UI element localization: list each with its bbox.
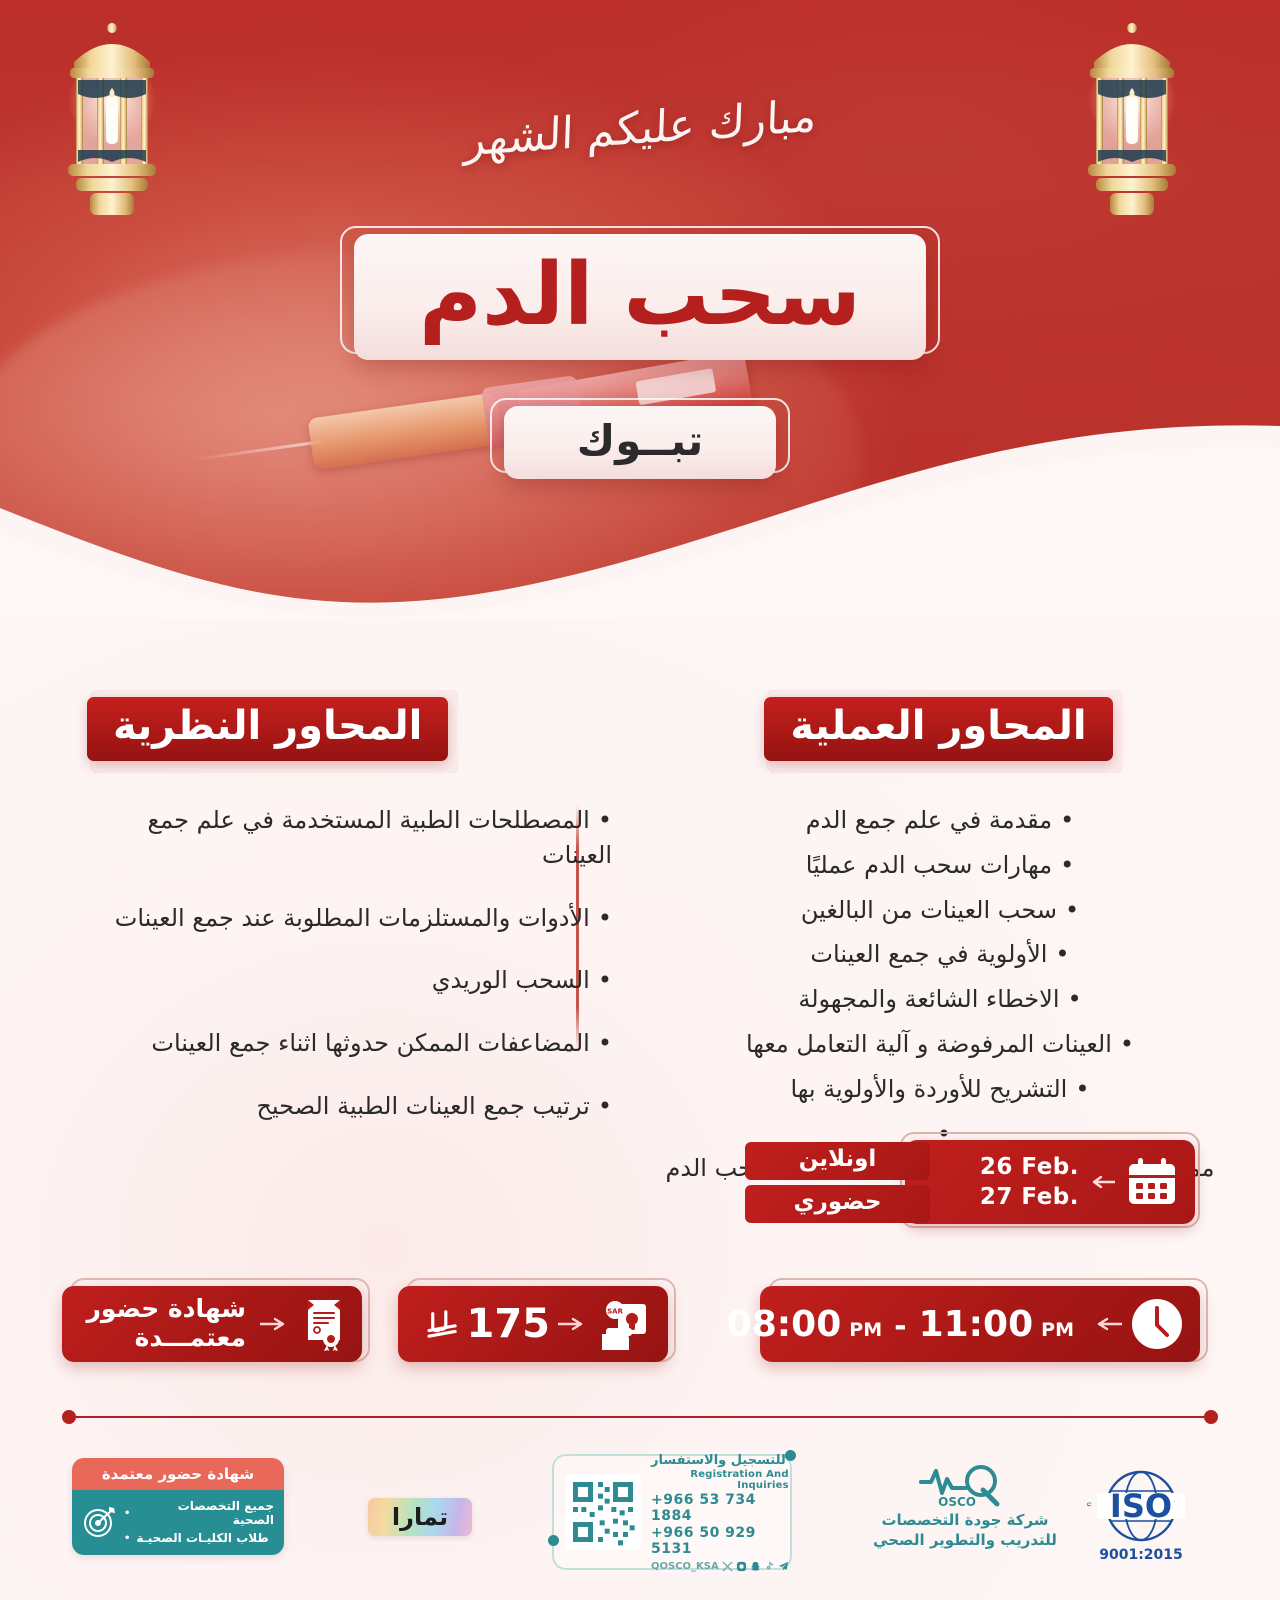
topic-text: الاخطاء الشائعة والمجهولة [798, 982, 1059, 1017]
list-item: •مهارات سحب الدم عمليًا [660, 848, 1220, 883]
tamara-logo: تمارا [368, 1498, 472, 1536]
social-handle: QOSCO_KSA [651, 1561, 719, 1572]
list-item: •المضاعفات الممكن حدوثها اثناء جمع العين… [80, 1026, 612, 1061]
bullet-icon: • [124, 1508, 130, 1519]
topic-text: الأولوية في جمع العينات [810, 937, 1047, 972]
iso-label: ISO [1110, 1487, 1172, 1525]
topic-text: العينات المرفوضة و آلية التعامل معها [746, 1027, 1112, 1062]
time-end-ampm: PM [1041, 1319, 1074, 1341]
certificate-line-1: شهادة حضور [87, 1295, 247, 1324]
audience-item-text: جميع التخصصات الصحية [136, 1499, 274, 1527]
telegram-icon[interactable] [778, 1561, 789, 1572]
date-line: 27 Feb. [980, 1184, 1079, 1210]
divider-line [72, 1416, 1208, 1418]
contact-details: للتسجيل والاستفسار Registration And Inqu… [651, 1453, 789, 1572]
practical-column: المحاور العملية •مقدمة في علم جمع الدم •… [660, 690, 1220, 1196]
bullet-icon: • [598, 1089, 612, 1124]
bullet-icon: • [598, 1026, 612, 1061]
qosco-name-line-1: شركة جودة التخصصات [873, 1511, 1057, 1531]
footer-divider [62, 1410, 1218, 1424]
topic-text: المضاعفات الممكن حدوثها اثناء جمع العينا… [151, 1029, 589, 1057]
contact-title-en: Registration And Inquiries [651, 1469, 789, 1491]
target-icon [82, 1505, 116, 1539]
theory-heading: المحاور النظرية [87, 697, 448, 761]
bullet-icon: • [1120, 1027, 1134, 1062]
certificate-line-2: معتمـــدة [87, 1324, 247, 1353]
topic-text: السحب الوريدي [432, 966, 590, 994]
list-item: •سحب العينات من البالغين [660, 893, 1220, 928]
list-item: •الاخطاء الشائعة والمجهولة [660, 982, 1220, 1017]
lantern-right [1072, 0, 1192, 240]
money-hand-icon: SAR [598, 1298, 654, 1350]
date-block: 26 Feb. 27 Feb. اونلاين حضوري [745, 1140, 1195, 1230]
topic-text: مقدمة في علم جمع الدم [806, 803, 1052, 838]
calendar-icon [1125, 1156, 1179, 1208]
date-values: 26 Feb. 27 Feb. [980, 1154, 1079, 1210]
bullet-icon: • [1075, 1072, 1089, 1107]
theory-column: المحاور النظرية •المصطلحات الطبية المستخ… [60, 690, 620, 1196]
topic-text: التشريح للأوردة والأولوية بها [790, 1072, 1067, 1107]
page-title: سحب الدم [384, 250, 896, 340]
iso-year: 9001:2015 [1099, 1547, 1183, 1563]
practical-heading: المحاور العملية [764, 697, 1112, 761]
lantern-left [52, 0, 172, 240]
time-start: 08:00 [727, 1304, 842, 1345]
svg-text:SAR: SAR [607, 1308, 623, 1316]
x-icon[interactable] [722, 1561, 733, 1572]
contact-phone[interactable]: +966 50 929 5131 [651, 1525, 789, 1557]
bullet-icon: • [1067, 982, 1081, 1017]
bullet-icon: • [1055, 937, 1069, 972]
footer: شهادة حضور معتمدة •جميع التخصصات الصحية … [0, 1440, 1280, 1600]
arrow-left-icon [1085, 1175, 1115, 1189]
bullet-icon: • [1065, 893, 1079, 928]
tiktok-icon[interactable] [764, 1561, 775, 1572]
bullet-icon: • [1060, 848, 1074, 883]
divider-cap-right [1204, 1410, 1218, 1424]
time-end: 11:00 [919, 1304, 1034, 1345]
theory-topic-list: •المصطلحات الطبية المستخدمة في علم جمع ا… [80, 803, 620, 1152]
list-item: •السحب الوريدي [80, 963, 612, 998]
bullet-icon: • [598, 963, 612, 998]
info-strips: 08:00 PM - 11:00 PM SAR [0, 1278, 1280, 1368]
qosco-logo-icon: OSCO [913, 1462, 1017, 1508]
arrow-right-icon [558, 1317, 590, 1331]
clock-icon [1130, 1297, 1184, 1351]
certificate-icon [300, 1297, 348, 1351]
topic-text: ترتيب جمع العينات الطبية الصحيح [256, 1092, 589, 1120]
time-value: 08:00 PM - 11:00 PM [727, 1304, 1074, 1345]
topics-area: المحاور النظرية •المصطلحات الطبية المستخ… [0, 690, 1280, 1196]
city-plate-frame: تبــوك [490, 398, 790, 487]
qosco-name-line-2: للتدريب والتطوير الصحي [873, 1531, 1057, 1551]
bullet-icon: • [124, 1533, 130, 1544]
date-card: 26 Feb. 27 Feb. [905, 1140, 1195, 1224]
poster-root: مبارك عليكم الشهر سحب الدم تبــوك المحاو… [0, 0, 1280, 1600]
arrow-left-icon [1090, 1317, 1122, 1331]
time-separator: - [894, 1309, 906, 1344]
title-block: سحب الدم [340, 226, 940, 368]
city-block: تبــوك [490, 398, 790, 487]
qosco-name: شركة جودة التخصصات للتدريب والتطوير الصح… [873, 1511, 1057, 1550]
list-item: •الأولوية في جمع العينات [660, 937, 1220, 972]
audience-item-text: طلاب الكليـات الصحيـة [136, 1531, 268, 1545]
price-strip: SAR 175 [398, 1286, 668, 1362]
list-item: •التشريح للأوردة والأولوية بها [660, 1072, 1220, 1107]
snapchat-icon[interactable] [750, 1561, 761, 1572]
qr-code-icon[interactable] [565, 1474, 641, 1550]
list-item: •طلاب الكليـات الصحيـة [124, 1531, 274, 1545]
list-item: •ترتيب جمع العينات الطبية الصحيح [80, 1089, 612, 1124]
audience-body: •جميع التخصصات الصحية •طلاب الكليـات الص… [72, 1490, 284, 1555]
practical-heading-frame: المحاور العملية [757, 690, 1122, 773]
list-item: •العينات المرفوضة و آلية التعامل معها [660, 1027, 1220, 1062]
list-item: •مقدمة في علم جمع الدم [660, 803, 1220, 838]
contact-card: للتسجيل والاستفسار Registration And Inqu… [552, 1454, 792, 1570]
audience-title: شهادة حضور معتمدة [72, 1458, 284, 1490]
city-plate: تبــوك [504, 406, 776, 479]
iso-globe-icon: ISO International Organization for Stand… [1075, 1460, 1207, 1546]
title-plate-frame: سحب الدم [340, 226, 940, 368]
qosco-logo: OSCO شركة جودة التخصصات للتدريب والتطوير… [860, 1462, 1070, 1550]
city-label: تبــوك [530, 416, 750, 465]
saudi-riyal-icon [427, 1310, 459, 1338]
price-amount: 175 [467, 1301, 551, 1347]
list-item: •المصطلحات الطبية المستخدمة في علم جمع ا… [80, 803, 612, 873]
list-item: •الأدوات والمستلزمات المطلوبة عند جمع ال… [80, 901, 612, 936]
arrow-right-icon [260, 1317, 292, 1331]
theory-heading-frame: المحاور النظرية [80, 690, 458, 773]
date-line: 26 Feb. [980, 1154, 1079, 1180]
lantern-icon [1072, 0, 1192, 240]
time-strip: 08:00 PM - 11:00 PM [760, 1286, 1200, 1362]
bullet-icon: • [1060, 803, 1074, 838]
instagram-icon[interactable] [736, 1561, 747, 1572]
mode-tag-online: اونلاين [745, 1142, 930, 1180]
audience-card: شهادة حضور معتمدة •جميع التخصصات الصحية … [72, 1458, 284, 1555]
title-plate: سحب الدم [354, 234, 926, 360]
topic-text: المصطلحات الطبية المستخدمة في علم جمع ال… [147, 806, 612, 869]
qosco-mark-text: OSCO [938, 1495, 976, 1508]
topic-text: سحب العينات من البالغين [801, 893, 1057, 928]
bullet-icon: • [598, 803, 612, 838]
certificate-label: شهادة حضور معتمـــدة [87, 1295, 247, 1353]
calligraphy-text: مبارك عليكم الشهر [463, 90, 817, 166]
tamara-label: تمارا [392, 1503, 448, 1531]
topic-text: الأدوات والمستلزمات المطلوبة عند جمع الع… [115, 904, 590, 932]
time-start-ampm: PM [849, 1319, 882, 1341]
contact-phone[interactable]: +966 53 734 1884 [651, 1492, 789, 1524]
bullet-icon: • [598, 901, 612, 936]
mode-tags: اونلاين حضوري [745, 1142, 930, 1223]
social-row: QOSCO_KSA [651, 1561, 789, 1572]
topic-text: مهارات سحب الدم عمليًا [806, 848, 1052, 883]
iso-logo: ISO International Organization for Stand… [1056, 1460, 1226, 1563]
certificate-strip: شهادة حضور معتمـــدة [62, 1286, 362, 1362]
mode-tag-onsite: حضوري [745, 1185, 930, 1223]
contact-title-ar: للتسجيل والاستفسار [651, 1453, 786, 1468]
audience-list: •جميع التخصصات الصحية •طلاب الكليـات الص… [124, 1499, 274, 1545]
list-item: •جميع التخصصات الصحية [124, 1499, 274, 1527]
price-value: 175 [427, 1301, 551, 1347]
ramadan-calligraphy: مبارك عليكم الشهر [460, 68, 820, 188]
iso-ring-text: International Organization for Standardi… [1075, 1460, 1093, 1507]
lantern-icon [52, 0, 172, 240]
